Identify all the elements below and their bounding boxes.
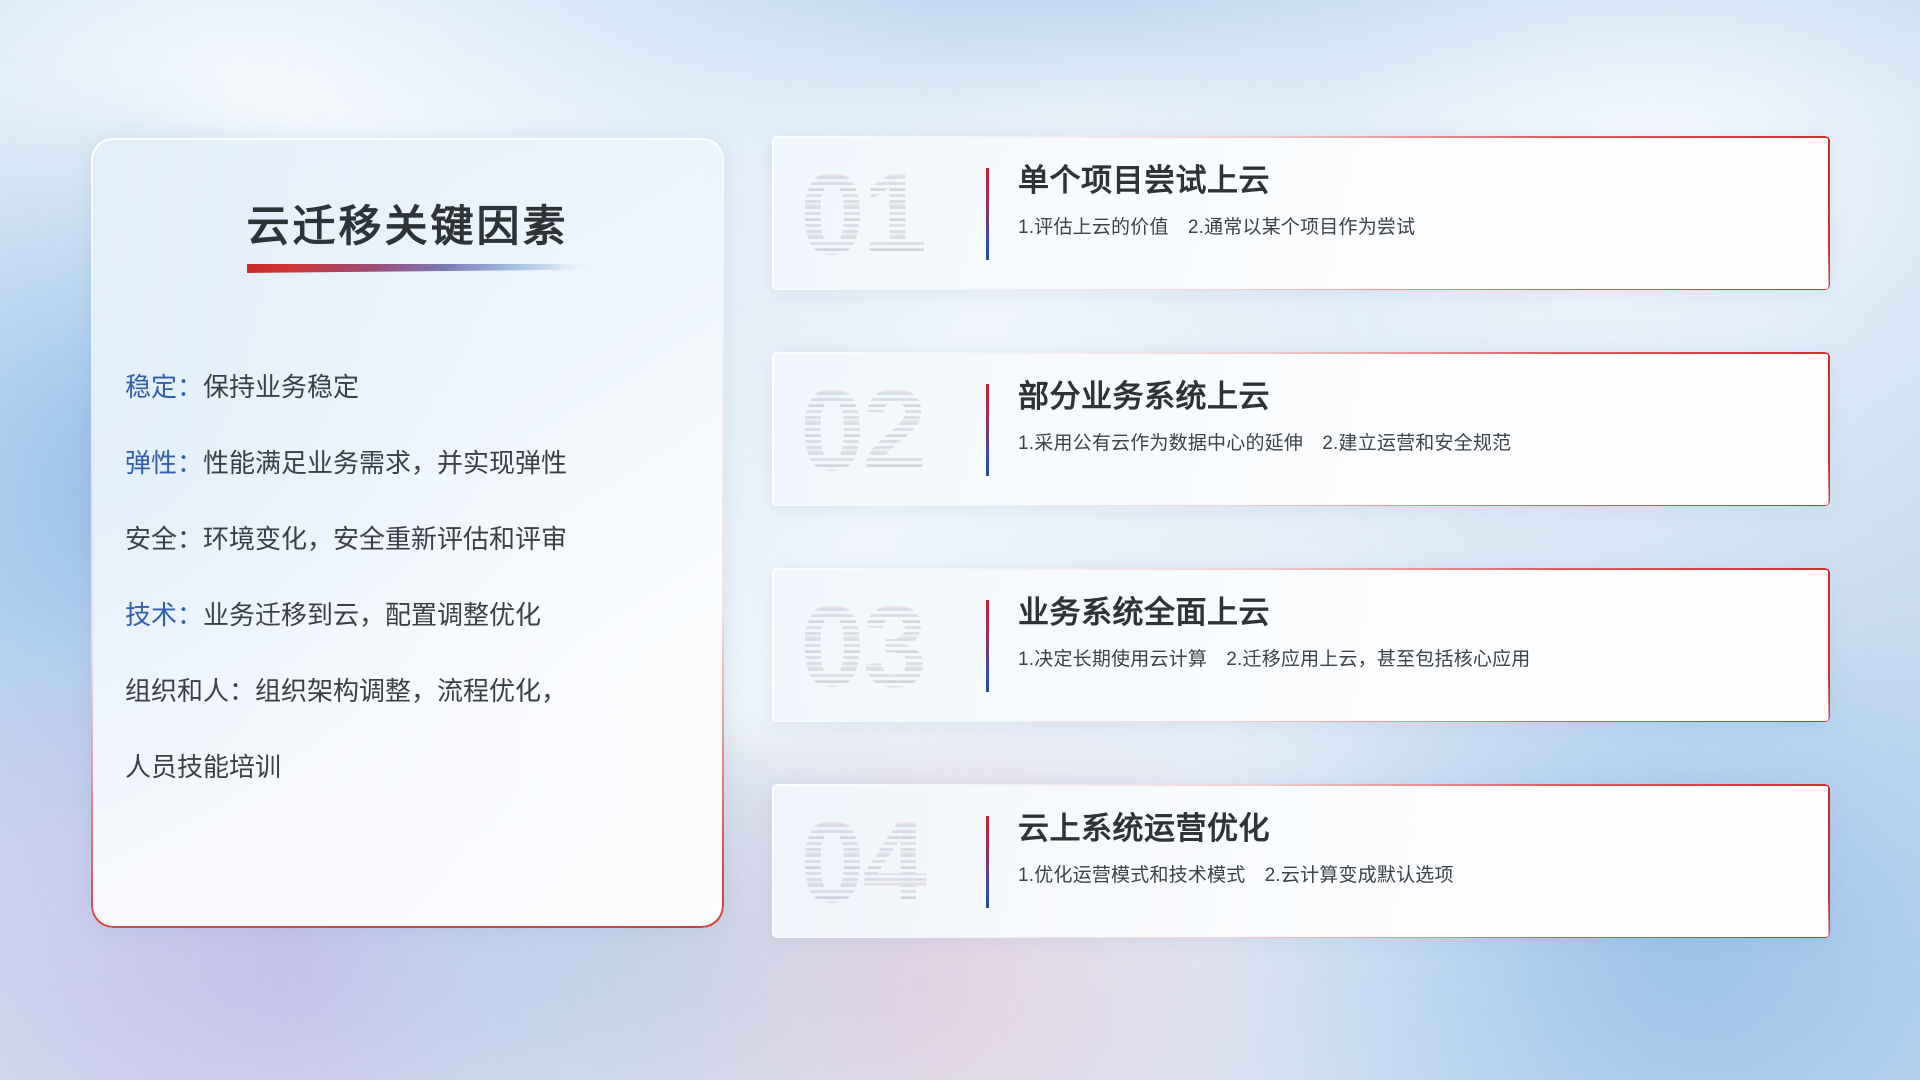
- key-factors-list: 稳定：保持业务稳定 弹性：性能满足业务需求，并实现弹性 安全：环境变化，安全重新…: [125, 374, 702, 780]
- list-item-value: 组织架构调整，流程优化，: [255, 676, 567, 706]
- card-subtitle: 1.采用公有云作为数据中心的延伸 2.建立运营和安全规范: [1018, 432, 1802, 457]
- list-item-key: 稳定：: [125, 372, 203, 402]
- panel-title: 云迁移关键因素: [91, 192, 724, 254]
- list-item: 人员技能培训: [125, 754, 702, 780]
- card-number: 02: [800, 362, 990, 498]
- card-number: 04: [800, 794, 990, 930]
- list-item-value: 业务迁移到云，配置调整优化: [203, 600, 541, 630]
- card-divider: [986, 816, 989, 908]
- list-item: 稳定：保持业务稳定: [125, 374, 702, 400]
- card-divider: [986, 168, 989, 260]
- list-item-key: 组织和人：: [125, 676, 255, 706]
- card-number: 03: [800, 578, 990, 714]
- card-subtitle: 1.决定长期使用云计算 2.迁移应用上云，甚至包括核心应用: [1018, 648, 1802, 673]
- list-item: 技术：业务迁移到云，配置调整优化: [125, 602, 702, 628]
- list-item-key: 技术：: [125, 600, 203, 630]
- list-item-value: 保持业务稳定: [203, 372, 359, 402]
- key-factors-panel: 云迁移关键因素 稳定：保持业务稳定 弹性：性能满足业务需求，并实现弹性 安全：环…: [91, 138, 724, 928]
- card-right-accent: [1828, 784, 1830, 938]
- card-body: 部分业务系统上云 1.采用公有云作为数据中心的延伸 2.建立运营和安全规范: [1018, 378, 1802, 457]
- slide-stage: 云迁移关键因素 稳定：保持业务稳定 弹性：性能满足业务需求，并实现弹性 安全：环…: [0, 0, 1920, 1080]
- list-item-value: 性能满足业务需求，并实现弹性: [203, 448, 567, 478]
- card-right-accent: [1828, 352, 1830, 506]
- card-divider: [986, 384, 989, 476]
- stage-card[interactable]: 02 02 部分业务系统上云 1.采用公有云作为数据中心的延伸 2.建立运营和安…: [772, 352, 1830, 506]
- card-title: 业务系统全面上云: [1018, 594, 1802, 632]
- list-item-key: 弹性：: [125, 448, 203, 478]
- panel-title-underline: [247, 264, 587, 273]
- list-item: 组织和人：组织架构调整，流程优化，: [125, 678, 702, 704]
- card-number: 01: [800, 146, 990, 282]
- list-item: 弹性：性能满足业务需求，并实现弹性: [125, 450, 702, 476]
- card-right-accent: [1828, 136, 1830, 290]
- card-body: 单个项目尝试上云 1.评估上云的价值 2.通常以某个项目作为尝试: [1018, 162, 1802, 241]
- list-item-value: 人员技能培训: [125, 752, 281, 782]
- card-divider: [986, 600, 989, 692]
- stage-card[interactable]: 03 03 业务系统全面上云 1.决定长期使用云计算 2.迁移应用上云，甚至包括…: [772, 568, 1830, 722]
- card-title: 单个项目尝试上云: [1018, 162, 1802, 200]
- stage-cards-list: 01 01 单个项目尝试上云 1.评估上云的价值 2.通常以某个项目作为尝试 0…: [772, 136, 1830, 938]
- stage-card[interactable]: 01 01 单个项目尝试上云 1.评估上云的价值 2.通常以某个项目作为尝试: [772, 136, 1830, 290]
- card-right-accent: [1828, 568, 1830, 722]
- card-subtitle: 1.评估上云的价值 2.通常以某个项目作为尝试: [1018, 216, 1802, 241]
- stage-card[interactable]: 04 04 云上系统运营优化 1.优化运营模式和技术模式 2.云计算变成默认选项: [772, 784, 1830, 938]
- card-title: 部分业务系统上云: [1018, 378, 1802, 416]
- card-title: 云上系统运营优化: [1018, 810, 1802, 848]
- card-subtitle: 1.优化运营模式和技术模式 2.云计算变成默认选项: [1018, 864, 1802, 889]
- card-body: 业务系统全面上云 1.决定长期使用云计算 2.迁移应用上云，甚至包括核心应用: [1018, 594, 1802, 673]
- list-item-value: 环境变化，安全重新评估和评审: [203, 524, 567, 554]
- list-item: 安全：环境变化，安全重新评估和评审: [125, 526, 702, 552]
- list-item-key: 安全：: [125, 524, 203, 554]
- card-body: 云上系统运营优化 1.优化运营模式和技术模式 2.云计算变成默认选项: [1018, 810, 1802, 889]
